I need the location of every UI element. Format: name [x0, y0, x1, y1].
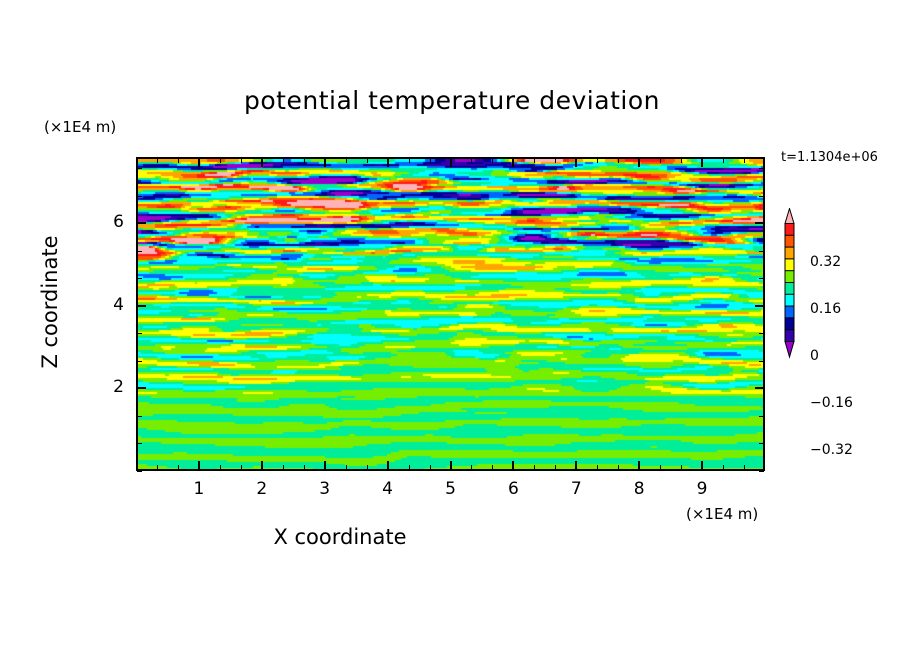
x-tick-minor-top	[346, 158, 347, 163]
x-tick-minor-top	[283, 158, 284, 163]
x-tick-minor	[555, 465, 556, 470]
y-tick-label: 2	[84, 377, 124, 397]
x-tick-minor	[744, 465, 745, 470]
x-tick-minor	[471, 465, 472, 470]
y-axis-title: Z coordinate	[38, 192, 62, 412]
x-tick-major	[638, 461, 640, 470]
y-tick-minor-right	[759, 251, 764, 252]
x-tick-minor-top	[492, 158, 493, 163]
x-tick-minor-top	[367, 158, 368, 163]
x-tick-minor	[492, 465, 493, 470]
x-tick-minor-top	[409, 158, 410, 163]
x-tick-major	[324, 461, 326, 470]
contour-field	[138, 159, 765, 471]
timestamp-annotation: t=1.1304e+06	[781, 150, 878, 165]
x-tick-label: 4	[368, 479, 408, 499]
colorbar-tick-label: 0.32	[810, 254, 841, 270]
y-tick-minor	[137, 278, 142, 279]
y-tick-label: 6	[84, 212, 124, 232]
y-tick-major	[137, 387, 146, 389]
x-tick-minor-top	[597, 158, 598, 163]
x-tick-label: 7	[556, 479, 596, 499]
x-tick-minor	[304, 465, 305, 470]
y-tick-label: 4	[84, 295, 124, 315]
y-tick-minor	[137, 196, 142, 197]
y-tick-minor-right	[759, 196, 764, 197]
x-tick-minor	[178, 465, 179, 470]
x-tick-minor-top	[534, 158, 535, 163]
x-tick-minor-top	[220, 158, 221, 163]
y-tick-minor	[137, 471, 142, 472]
x-tick-minor	[157, 465, 158, 470]
x-tick-minor	[409, 465, 410, 470]
y-tick-major	[137, 222, 146, 224]
chart-title: potential temperature deviation	[0, 86, 904, 115]
y-tick-major	[137, 305, 146, 307]
y-tick-minor-right	[759, 168, 764, 169]
x-tick-minor	[241, 465, 242, 470]
x-tick-major	[450, 461, 452, 470]
x-tick-minor	[723, 465, 724, 470]
figure-canvas: potential temperature deviation (×1E4 m)…	[0, 0, 904, 654]
y-tick-major-right	[755, 387, 764, 389]
x-tick-minor-top	[681, 158, 682, 163]
colorbar-tick-label: −0.16	[810, 395, 853, 411]
y-tick-minor-right	[759, 443, 764, 444]
x-tick-minor-top	[723, 158, 724, 163]
x-tick-major	[512, 461, 514, 470]
x-tick-minor	[660, 465, 661, 470]
colorbar[interactable]	[784, 208, 802, 506]
x-tick-label: 6	[493, 479, 533, 499]
x-tick-minor	[367, 465, 368, 470]
x-tick-minor-top	[304, 158, 305, 163]
x-tick-minor-top	[157, 158, 158, 163]
x-axis-title: X coordinate	[0, 525, 680, 549]
y-tick-minor-right	[759, 416, 764, 417]
y-tick-minor	[137, 361, 142, 362]
x-tick-major-top	[638, 158, 640, 167]
x-tick-minor-top	[744, 158, 745, 163]
colorbar-tick-label: 0	[810, 348, 819, 364]
contour-plot-area[interactable]	[136, 157, 765, 471]
x-tick-minor-top	[660, 158, 661, 163]
x-tick-major-top	[324, 158, 326, 167]
x-tick-major-top	[575, 158, 577, 167]
x-tick-minor	[430, 465, 431, 470]
x-tick-label: 8	[619, 479, 659, 499]
y-tick-minor-right	[759, 361, 764, 362]
x-tick-label: 9	[682, 479, 722, 499]
x-tick-minor-top	[178, 158, 179, 163]
colorbar-tick-label: −0.32	[810, 442, 853, 458]
x-tick-label: 2	[242, 479, 282, 499]
y-tick-minor-right	[759, 471, 764, 472]
y-tick-minor	[137, 416, 142, 417]
y-tick-minor-right	[759, 333, 764, 334]
colorbar-tick-label: 0.16	[810, 301, 841, 317]
x-tick-major-top	[701, 158, 703, 167]
x-tick-label: 1	[179, 479, 219, 499]
x-tick-label: 5	[431, 479, 471, 499]
x-tick-major	[387, 461, 389, 470]
x-tick-major	[575, 461, 577, 470]
x-tick-major-top	[198, 158, 200, 167]
x-axis-unit-label: (×1E4 m)	[686, 505, 758, 523]
y-tick-minor-right	[759, 278, 764, 279]
x-tick-minor	[346, 465, 347, 470]
x-tick-major-top	[512, 158, 514, 167]
x-tick-minor	[597, 465, 598, 470]
y-tick-minor	[137, 333, 142, 334]
x-tick-label: 3	[305, 479, 345, 499]
x-tick-major	[198, 461, 200, 470]
x-tick-major	[261, 461, 263, 470]
x-tick-minor	[681, 465, 682, 470]
x-tick-minor	[534, 465, 535, 470]
x-tick-minor-top	[430, 158, 431, 163]
x-tick-minor-top	[555, 158, 556, 163]
x-tick-major-top	[261, 158, 263, 167]
x-tick-major	[701, 461, 703, 470]
x-tick-major-top	[450, 158, 452, 167]
y-tick-major-right	[755, 305, 764, 307]
y-tick-minor	[137, 168, 142, 169]
x-tick-minor	[618, 465, 619, 470]
y-tick-major-right	[755, 222, 764, 224]
x-tick-minor-top	[618, 158, 619, 163]
y-tick-minor	[137, 443, 142, 444]
x-tick-minor	[283, 465, 284, 470]
x-tick-minor	[220, 465, 221, 470]
x-tick-minor-top	[471, 158, 472, 163]
z-axis-unit-label: (×1E4 m)	[44, 118, 116, 136]
x-tick-major-top	[387, 158, 389, 167]
y-tick-minor	[137, 251, 142, 252]
x-tick-minor-top	[241, 158, 242, 163]
